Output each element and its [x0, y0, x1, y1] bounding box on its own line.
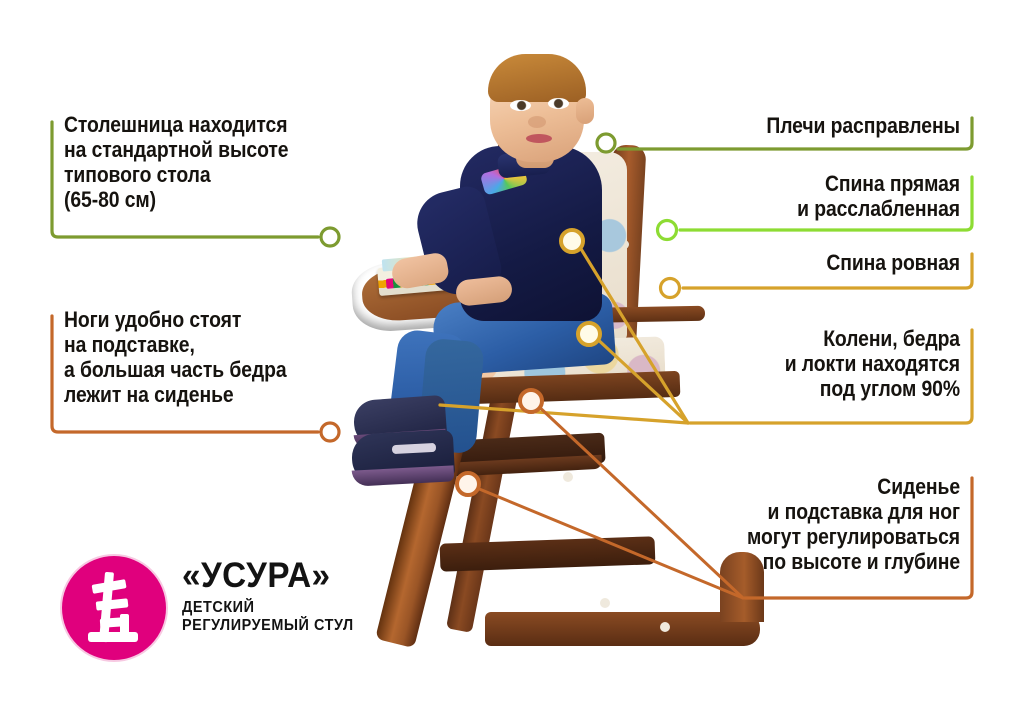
callout-tabletop-height: Столешница находится на стандартной высо… [64, 112, 319, 212]
callout-shoulders: Плечи расправлены [670, 113, 960, 138]
callout-back-even: Спина ровная [670, 250, 960, 275]
logo-brand-name: «УСУРА» [182, 558, 372, 593]
chair-glyph-icon [76, 570, 152, 646]
logo-text-block: «УСУРА» ДЕТСКИЙ РЕГУЛИРУЕМЫЙ СТУЛ [182, 558, 382, 635]
callout-feet-support: Ноги удобно стоят на подставке, а больша… [64, 307, 328, 407]
callout-knees-hips-elbows: Колени, бедра и локти находятся под угло… [670, 326, 960, 401]
callout-seat-footrest-adjustable: Сиденье и подставка для ног могут регули… [661, 474, 960, 574]
infographic-canvas: Столешница находится на стандартной высо… [0, 0, 1024, 724]
callout-back-straight: Спина прямая и расслабленная [670, 171, 960, 221]
logo-subtitle-line2: РЕГУЛИРУЕМЫЙ СТУЛ [182, 617, 368, 635]
logo-subtitle-line1: ДЕТСКИЙ [182, 599, 368, 617]
brand-logo[interactable]: «УСУРА» ДЕТСКИЙ РЕГУЛИРУЕМЫЙ СТУЛ [62, 552, 362, 664]
